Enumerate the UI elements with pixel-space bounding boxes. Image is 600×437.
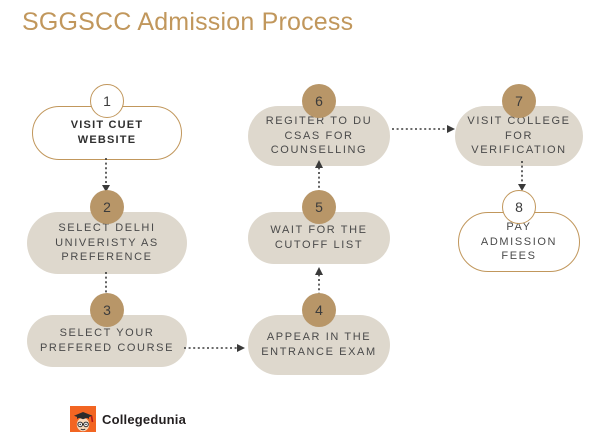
step-2-number: 2 (90, 190, 124, 224)
flow-step-2[interactable]: SELECT DELHI UNIVERISTY AS PREFERENCE 2 (27, 190, 187, 274)
step-5-number: 5 (302, 190, 336, 224)
connector-3-to-4 (184, 341, 250, 355)
step-8-label: PAY ADMISSION FEES (467, 220, 571, 265)
connector-6-to-7 (392, 122, 460, 136)
flow-step-1[interactable]: VISIT CUET WEBSITE 1 (32, 84, 182, 160)
step-4-number: 4 (302, 293, 336, 327)
step-3-number: 3 (90, 293, 124, 327)
step-8-number: 8 (502, 190, 536, 224)
step-6-number: 6 (302, 84, 336, 118)
collegedunia-logo[interactable]: Collegedunia (70, 406, 186, 432)
step-4-label: APPEAR IN THE ENTRANCE EXAM (256, 330, 382, 360)
collegedunia-mascot-icon (70, 406, 96, 432)
flow-step-4[interactable]: APPEAR IN THE ENTRANCE EXAM 4 (248, 293, 390, 375)
step-6-label: REGITER TO DU CSAS FOR COUNSELLING (256, 114, 382, 159)
step-3-label: SELECT YOUR PREFERED COURSE (35, 326, 179, 356)
flow-step-6[interactable]: REGITER TO DU CSAS FOR COUNSELLING 6 (248, 84, 390, 166)
page-title: SGGSCC Admission Process (22, 8, 353, 37)
step-2-label: SELECT DELHI UNIVERISTY AS PREFERENCE (35, 221, 179, 266)
step-1-number: 1 (90, 84, 124, 118)
step-7-number: 7 (502, 84, 536, 118)
step-5-label: WAIT FOR THE CUTOFF LIST (256, 223, 382, 253)
step-7-label: VISIT COLLEGE FOR VERIFICATION (463, 114, 575, 159)
collegedunia-wordmark: Collegedunia (102, 412, 186, 427)
step-1-label: VISIT CUET WEBSITE (41, 118, 173, 148)
infographic-canvas: SGGSCC Admission Process (0, 0, 600, 437)
flow-step-8[interactable]: PAY ADMISSION FEES 8 (458, 190, 580, 272)
flow-step-3[interactable]: SELECT YOUR PREFERED COURSE 3 (27, 293, 187, 371)
flow-step-7[interactable]: VISIT COLLEGE FOR VERIFICATION 7 (455, 84, 583, 166)
flow-step-5[interactable]: WAIT FOR THE CUTOFF LIST 5 (248, 190, 390, 266)
